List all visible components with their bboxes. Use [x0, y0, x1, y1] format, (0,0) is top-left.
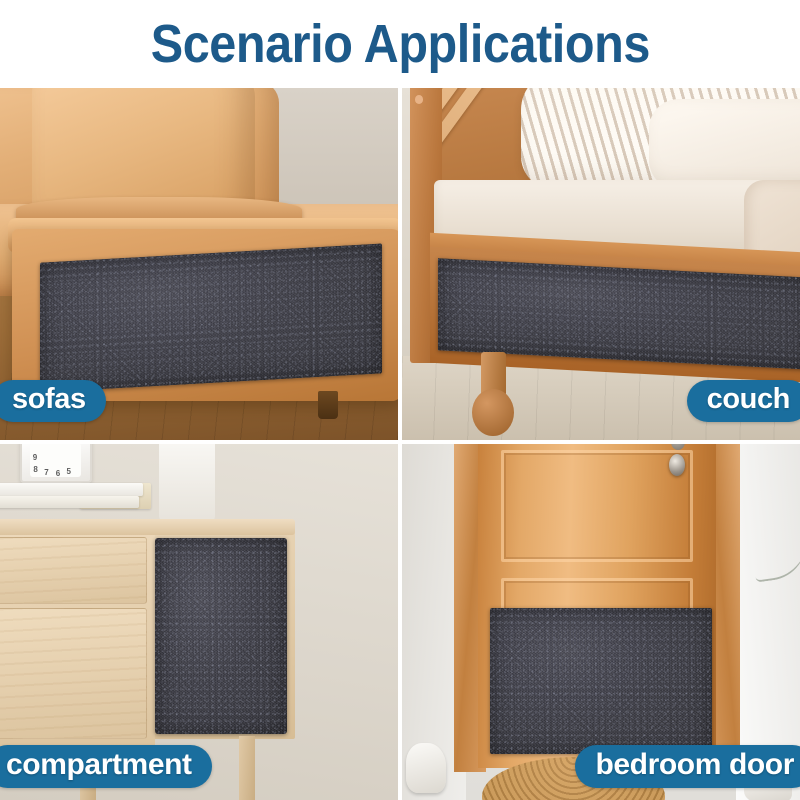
scenario-panel-bedroom-door[interactable]: bedroom door — [402, 444, 800, 800]
cabinet-top-surface — [0, 519, 295, 535]
white-pillow — [649, 99, 800, 191]
page-title-bar: Scenario Applications — [0, 0, 800, 88]
clock-numeral: 8 — [33, 465, 37, 474]
scenario-panel-compartment[interactable]: 9 8 7 6 5 compartment — [0, 444, 398, 800]
product-infographic: Scenario Applications sofas — [0, 0, 800, 800]
bed-leg-ball — [472, 389, 514, 437]
cabinet-drawer-lower[interactable] — [0, 608, 147, 740]
vase — [159, 444, 215, 522]
clock-numeral: 5 — [67, 467, 71, 476]
clock-numerals: 9 8 7 6 5 — [22, 444, 90, 481]
clock-numeral: 7 — [44, 468, 48, 477]
sofa-leg — [318, 391, 338, 419]
scratch-guard-mat — [490, 608, 713, 754]
scratch-guard-mat — [155, 538, 286, 734]
shoe-left — [406, 743, 446, 793]
scenario-panel-couch[interactable]: couch — [402, 88, 800, 440]
scenario-label-sofas: sofas — [0, 380, 106, 422]
bed-leg — [470, 352, 518, 440]
alarm-clock-icon: 9 8 7 6 5 — [20, 444, 92, 483]
scenario-label-compartment: compartment — [0, 745, 212, 788]
clock-numeral: 9 — [33, 453, 37, 462]
book-bottom — [0, 496, 139, 508]
page-title: Scenario Applications — [150, 17, 649, 71]
scenario-label-couch: couch — [687, 380, 800, 422]
scenario-grid: sofas couch — [0, 88, 800, 800]
scenario-panel-sofas[interactable]: sofas — [0, 88, 398, 440]
cabinet-drawer-upper[interactable] — [0, 537, 147, 605]
book-top — [0, 483, 143, 496]
door-panel-upper — [501, 450, 692, 561]
scratch-guard-mat — [40, 244, 382, 393]
scenario-label-bedroom-door: bedroom door — [575, 745, 800, 788]
clock-numeral: 6 — [56, 469, 60, 478]
cabinet-leg-right — [239, 736, 255, 800]
